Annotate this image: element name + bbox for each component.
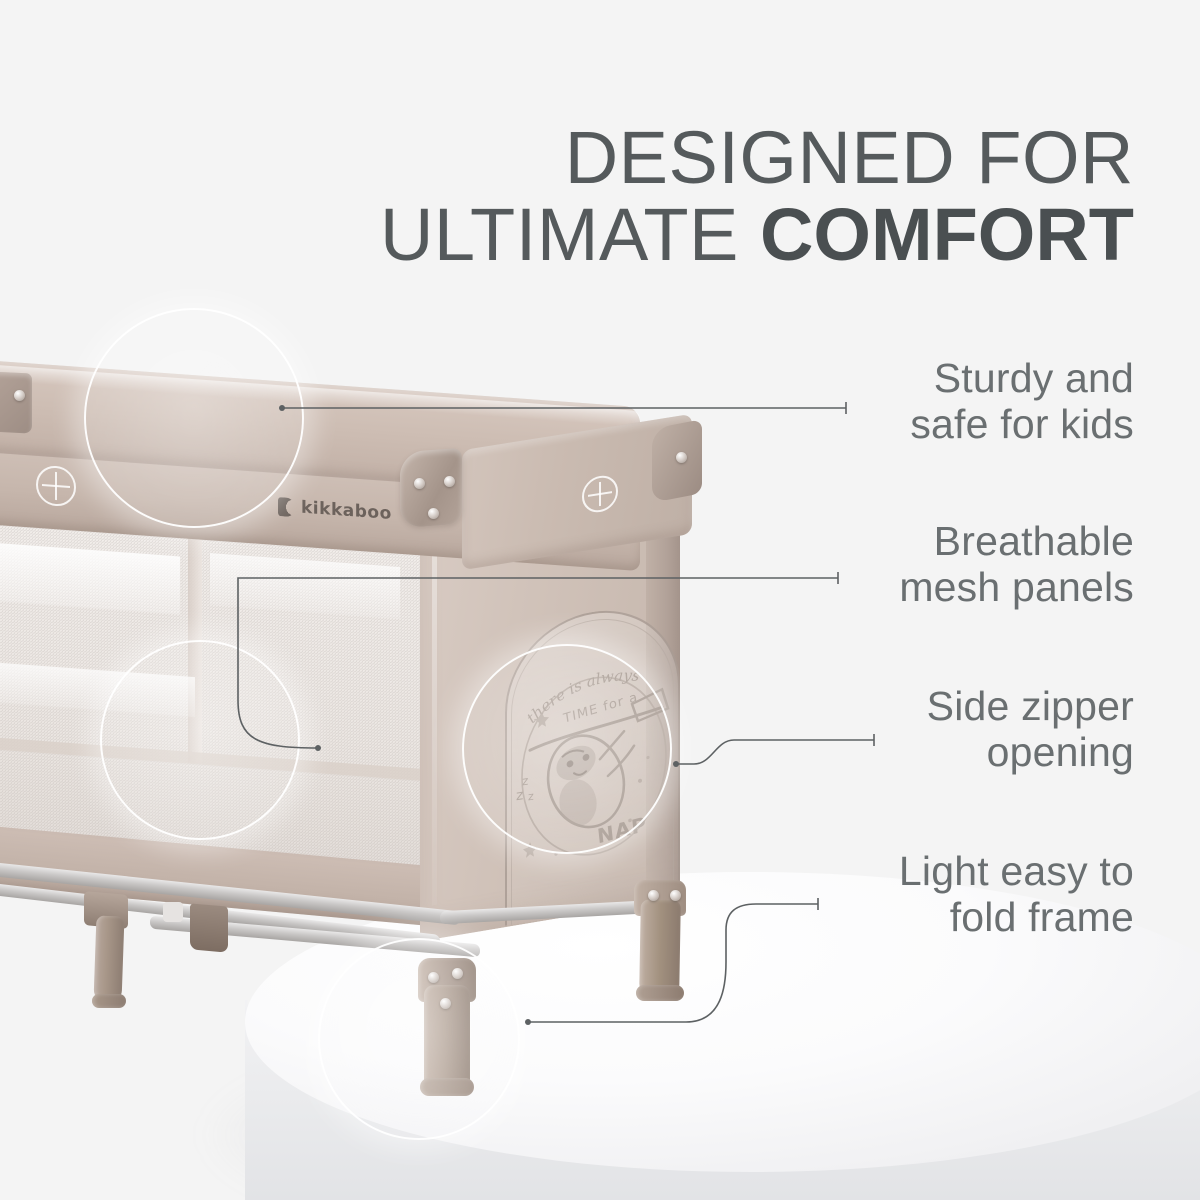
leader-dot [279, 405, 285, 411]
page-title: DESIGNED FOR ULTIMATE COMFORT [380, 120, 1134, 274]
feature-line-2: safe for kids [910, 401, 1134, 447]
feature-line-1: Breathable [899, 518, 1134, 564]
leader-dot [673, 761, 679, 767]
headline-line-2: ULTIMATE COMFORT [380, 197, 1134, 274]
headline-bold: COMFORT [760, 193, 1134, 276]
feature-label-sturdy: Sturdy and safe for kids [910, 355, 1134, 448]
leader-dot [525, 1019, 531, 1025]
feature-line-1: Light easy to [899, 848, 1134, 894]
feature-line-1: Sturdy and [910, 355, 1134, 401]
feature-label-zipper: Side zipper opening [927, 683, 1134, 776]
leader-dot [315, 745, 321, 751]
headline-light: ULTIMATE [380, 193, 760, 276]
feature-line-2: opening [927, 729, 1134, 775]
leader-line-frame [528, 904, 818, 1022]
infographic-canvas: z z z there is always TIME for a NAP [0, 0, 1200, 1200]
leader-line-zipper [676, 740, 874, 764]
headline-line-1: DESIGNED FOR [565, 116, 1134, 199]
feature-label-mesh: Breathable mesh panels [899, 518, 1134, 611]
leader-line-mesh [238, 578, 838, 748]
feature-label-frame: Light easy to fold frame [899, 848, 1134, 941]
feature-line-2: fold frame [899, 894, 1134, 940]
feature-line-2: mesh panels [899, 564, 1134, 610]
feature-line-1: Side zipper [927, 683, 1134, 729]
